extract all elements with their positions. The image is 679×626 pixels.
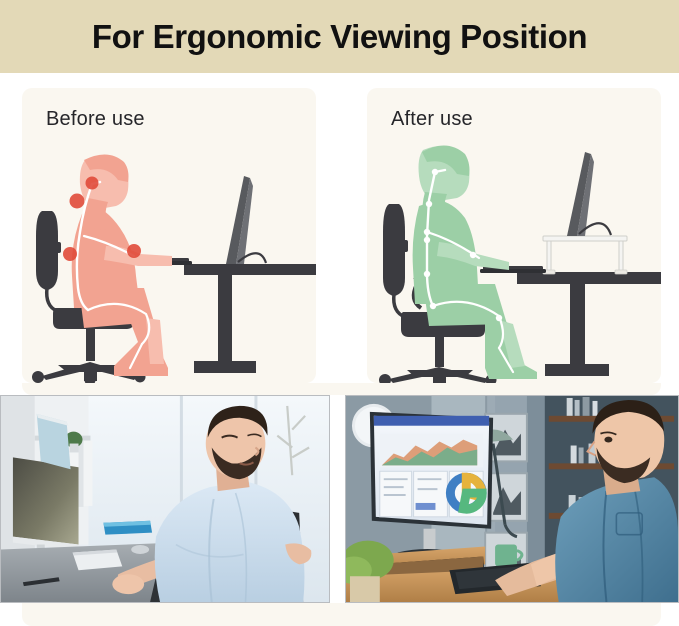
figure-before-hunched <box>63 154 172 376</box>
figure-after-upright <box>413 145 537 379</box>
monitor-after <box>567 152 611 236</box>
panel-bottom-strip <box>22 383 661 395</box>
photo-man-with-back-pain <box>0 395 330 603</box>
pain-dot-shoulder <box>70 194 85 209</box>
illustration-after-use <box>367 136 661 383</box>
pain-dot-elbow <box>127 244 141 258</box>
pain-dot-lower-back <box>63 247 77 261</box>
panel-label-after: After use <box>391 108 473 131</box>
page-bottom-strip <box>22 603 661 626</box>
pain-dot-neck <box>86 177 99 190</box>
monitor-before <box>226 176 266 264</box>
desk-after <box>517 272 661 376</box>
illustration-before-use <box>22 136 316 383</box>
photo-man-working-comfortably <box>345 395 679 603</box>
panel-after-use: After use <box>367 88 661 383</box>
header-banner: For Ergonomic Viewing Position <box>0 0 679 73</box>
monitor-riser-stand <box>543 236 627 274</box>
panel-label-before: Before use <box>46 108 145 131</box>
panel-before-use: Before use <box>22 88 316 383</box>
desk-before <box>184 264 316 373</box>
page-title: For Ergonomic Viewing Position <box>92 20 587 53</box>
